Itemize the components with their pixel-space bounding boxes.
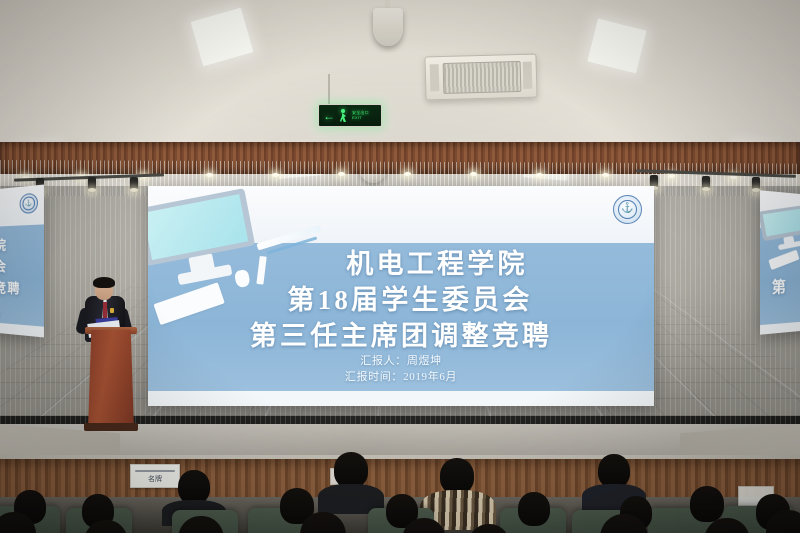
main-presentation-banner: ⚓ 机电工程学院 第18届学生委员会 第三任主席团调整竞聘 汇报人：周煜坤 汇报… [148, 186, 654, 406]
banner-footer-strip [148, 391, 654, 406]
exit-sign-label-en: EXIT [352, 115, 362, 120]
downlight-icon [668, 174, 675, 178]
banner-presenter: 汇报人：周煜坤 [148, 352, 654, 368]
exit-sign-label: 安全出口 EXIT [352, 111, 369, 120]
lectern-base [84, 423, 138, 431]
presenter-hair [93, 277, 115, 288]
auditorium-photo: ← 安全出口 EXIT ⚓ 程学院 委员会 团调整竞聘 煜坤 20 [0, 0, 800, 533]
ceiling-ac-cassette-icon [424, 54, 537, 101]
running-man-icon [338, 109, 349, 122]
banner-date: 汇报时间：2019年6月 [148, 368, 654, 384]
emblem-mark: ⚓ [621, 204, 633, 214]
downlight-icon [272, 173, 279, 177]
spotlight-icon [130, 177, 138, 190]
downlight-icon [536, 173, 543, 177]
name-placard: 名牌 [130, 464, 180, 488]
audience-head [690, 486, 724, 522]
spotlight-icon [702, 176, 710, 189]
side-right-title-line1: 第 [760, 274, 800, 298]
downlight-icon [206, 173, 213, 177]
spotlight-icon [752, 177, 760, 190]
projector-icon [373, 8, 403, 46]
emblem-mark: ⚓ [25, 200, 32, 207]
audience-head [334, 452, 368, 488]
presenter-badge [110, 308, 114, 313]
banner-illustration-right [760, 204, 800, 260]
arrow-left-icon: ← [323, 110, 335, 122]
downlight-icon [338, 172, 345, 176]
side-left-title-line3: 团调整竞聘 [0, 276, 44, 299]
side-screen-left: ⚓ 程学院 委员会 团调整竞聘 煜坤 2019年6月 [0, 185, 44, 338]
presenter-tie [103, 302, 107, 318]
side-left-title-line1: 程学院 [0, 233, 44, 254]
audience-head [518, 492, 550, 526]
downlight-icon [602, 173, 609, 177]
lectern [88, 330, 134, 430]
audience-head [440, 458, 474, 494]
side-left-title-line2: 委员会 [0, 256, 44, 276]
name-placard-text: 名牌 [131, 474, 179, 484]
exit-sign-mount [328, 74, 330, 106]
banner-title-line3: 第三任主席团调整竞聘 [148, 314, 654, 353]
downlight-icon [404, 172, 411, 176]
downlight-icon [470, 172, 477, 176]
university-emblem: ⚓ [613, 195, 642, 224]
audience-area: 名牌 [0, 446, 800, 533]
banner-title-line1: 机电工程学院 [148, 242, 654, 281]
side-screen-right: 第 [760, 190, 800, 334]
audience-head [598, 454, 630, 488]
banner-title-line2: 第18届学生委员会 [148, 278, 654, 317]
exit-sign: ← 安全出口 EXIT [318, 104, 382, 127]
spotlight-icon [88, 177, 96, 190]
audience-head [178, 470, 210, 504]
